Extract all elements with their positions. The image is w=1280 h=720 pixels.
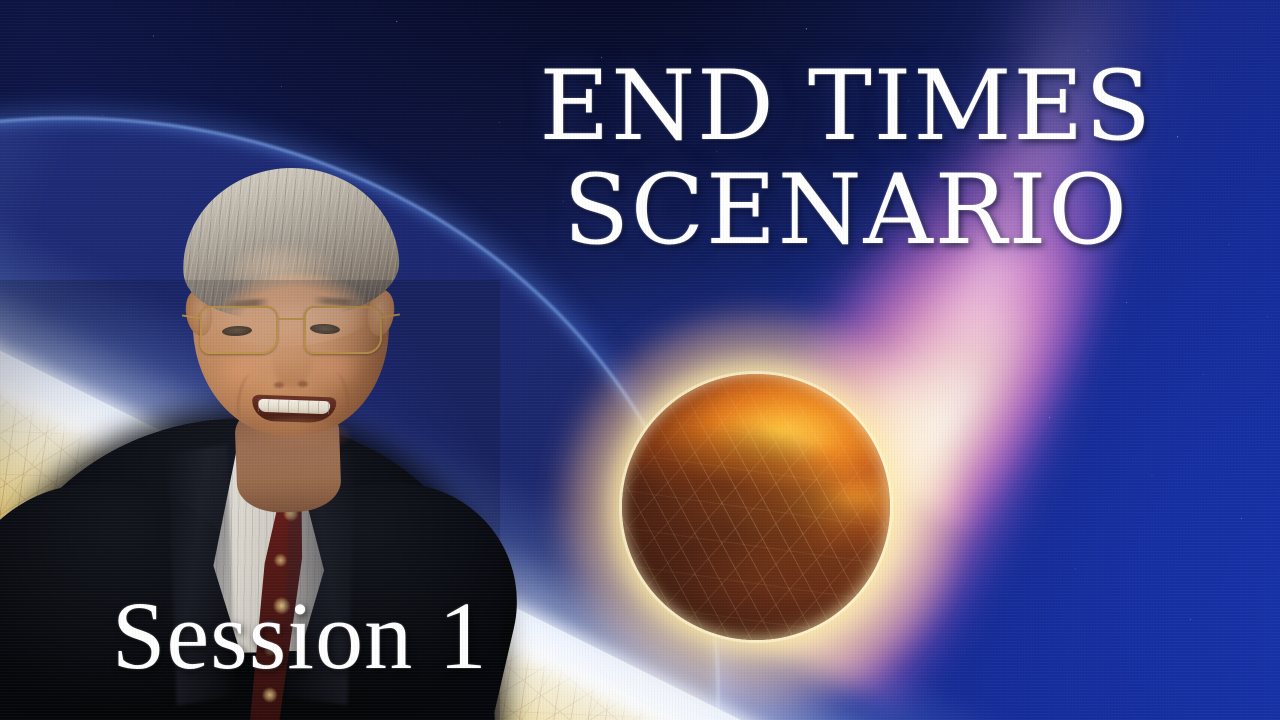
video-thumbnail: END TIMES SCENARIO Session 1 — [0, 0, 1280, 720]
eyeglass-lens-right — [304, 306, 382, 354]
title-line-2: SCENARIO — [466, 164, 1226, 256]
session-label: Session 1 — [112, 588, 488, 684]
title-line-1: END TIMES — [466, 60, 1226, 152]
title-block: END TIMES SCENARIO — [466, 60, 1226, 256]
nostril-right — [298, 381, 308, 387]
chin-shading — [240, 418, 350, 452]
eyeglass-lens-left — [200, 306, 278, 354]
nose — [272, 330, 312, 388]
teeth — [258, 399, 330, 415]
meteor-rim-highlight — [622, 374, 890, 640]
eyeglass-bridge — [278, 318, 304, 320]
meteor-impactor — [622, 374, 890, 640]
forehead-highlight — [230, 246, 340, 298]
nostril-left — [274, 382, 284, 388]
